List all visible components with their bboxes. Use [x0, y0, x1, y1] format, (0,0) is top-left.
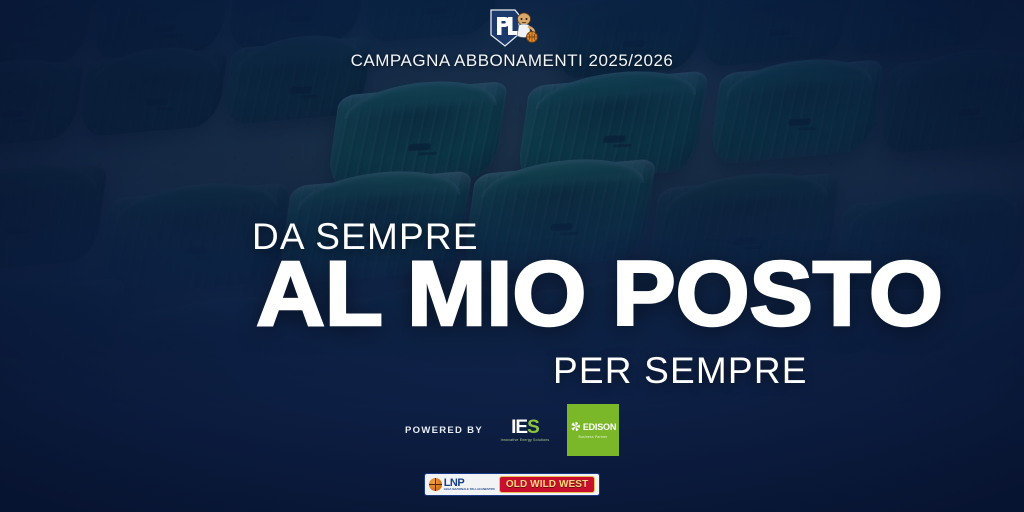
powered-by-label: POWERED BY	[405, 425, 483, 436]
subscription-campaign-poster: CAMPAGNA ABBONAMENTI 2025/2026 DA SEMPRE…	[0, 0, 1024, 512]
lnp-logo[interactable]: LNP LEGA NAZIONALE PALLACANESTRO	[429, 478, 495, 492]
league-logo-plate[interactable]: LNP LEGA NAZIONALE PALLACANESTRO OLD WIL…	[424, 473, 601, 496]
ies-wordmark-left: IE	[511, 417, 527, 438]
ies-tagline: Innovative Energy Solutions	[501, 438, 550, 442]
ies-wordmark-right: S	[527, 417, 539, 438]
pl-team-crest-logo	[484, 6, 540, 50]
poster-content: CAMPAGNA ABBONAMENTI 2025/2026 DA SEMPRE…	[0, 0, 1024, 512]
headline-main: AL MIO POSTO	[256, 256, 943, 333]
ies-wordmark: IES	[511, 418, 539, 437]
basketball-icon	[429, 478, 442, 491]
edison-pinwheel-icon	[570, 421, 581, 432]
edison-lockup: EDISON	[570, 421, 616, 432]
ies-sponsor-logo[interactable]: IES Innovative Energy Solutions	[497, 418, 553, 442]
sponsor-row: POWERED BY IES Innovative Energy Solutio…	[0, 404, 1024, 456]
edison-sponsor-logo[interactable]: EDISON Business Partner	[567, 404, 619, 456]
lnp-full-name: LEGA NAZIONALE PALLACANESTRO	[444, 489, 495, 492]
headline-kicker-bottom: PER SEMPRE	[553, 350, 808, 392]
league-footer-row: LNP LEGA NAZIONALE PALLACANESTRO OLD WIL…	[0, 473, 1024, 496]
campaign-label: CAMPAGNA ABBONAMENTI 2025/2026	[351, 51, 674, 71]
edison-wordmark: EDISON	[583, 422, 616, 432]
lnp-text-lockup: LNP LEGA NAZIONALE PALLACANESTRO	[444, 478, 495, 492]
lnp-acronym: LNP	[444, 478, 495, 489]
edison-tagline: Business Partner	[578, 435, 607, 439]
old-wild-west-title-sponsor[interactable]: OLD WILD WEST	[499, 476, 595, 493]
